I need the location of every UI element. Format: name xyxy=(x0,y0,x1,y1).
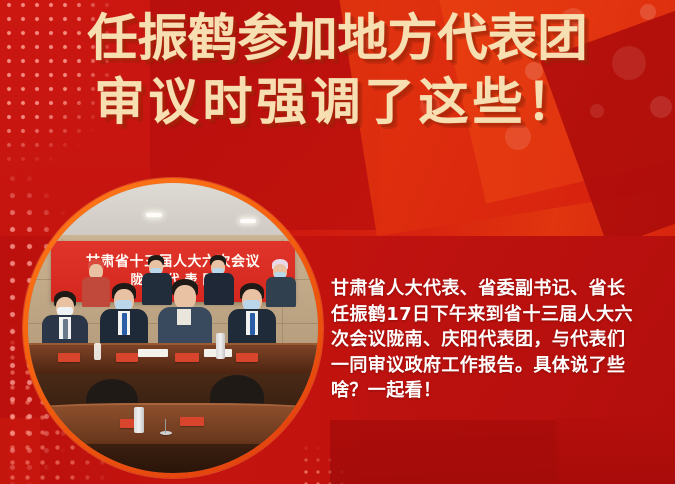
background-panel-bottom-2 xyxy=(556,418,675,484)
photo-documents xyxy=(138,349,168,357)
photo-circle-ring: 甘肃省十三届人大六次会议 陇南代表团 xyxy=(23,178,323,478)
photo-nameplate xyxy=(58,353,80,362)
conference-meeting-photo: 甘肃省十三届人大六次会议 陇南代表团 xyxy=(28,183,318,473)
body-copy-line: 啥？一起看！ xyxy=(331,378,661,404)
body-copy-line: 甘肃省人大代表、省委副书记、省长 xyxy=(331,276,661,302)
poster-root: 任振鹤参加地方代表团 审议时强调了这些！ 甘肃省十三届人大六次会议 陇南代表团 xyxy=(0,0,675,484)
body-copy-block: 甘肃省人大代表、省委副书记、省长 任振鹤17日下午来到省十三届人大六 次会议陇南… xyxy=(331,276,661,404)
photo-ceiling-lamp xyxy=(240,219,256,223)
body-copy-line: 次会议陇南、庆阳代表团，与代表们 xyxy=(331,327,661,353)
body-copy-line: 任振鹤17日下午来到省十三届人大六 xyxy=(331,302,661,328)
photo-microphone-stem xyxy=(165,419,166,433)
body-copy-line: 一同审议政府工作报告。具体说了些 xyxy=(331,353,661,379)
photo-nameplate xyxy=(116,353,138,362)
photo-water-bottle xyxy=(94,343,101,360)
photo-foreground-shadow xyxy=(28,444,318,473)
photo-nameplate xyxy=(180,417,204,426)
photo-thermos xyxy=(134,407,144,433)
photo-nameplate xyxy=(175,353,199,362)
photo-thermos xyxy=(216,333,225,359)
photo-ceiling-lamp xyxy=(50,219,66,223)
headline-line-1: 任振鹤参加地方代表团 xyxy=(0,6,675,70)
photo-ceiling-lamp xyxy=(146,213,162,217)
photo-microphone xyxy=(160,431,172,435)
dot-texture-arc-bottom xyxy=(300,430,420,484)
headline-block: 任振鹤参加地方代表团 审议时强调了这些！ xyxy=(0,6,675,134)
headline-line-2: 审议时强调了这些！ xyxy=(0,70,675,134)
photo-ceiling xyxy=(28,183,318,241)
photo-nameplate xyxy=(236,353,258,362)
conference-banner-line-1: 甘肃省十三届人大六次会议 xyxy=(86,254,260,270)
